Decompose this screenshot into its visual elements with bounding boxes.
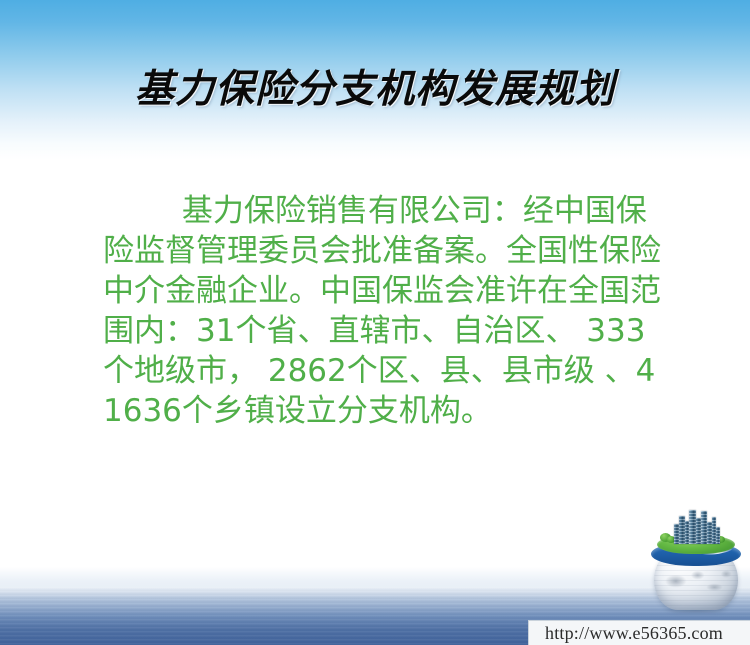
company-description-paragraph: 基力保险销售有限公司：经中国保险监督管理委员会批准备案。全国性保险中介金融企业。… xyxy=(103,191,665,431)
presentation-slide: 基力保险分支机构发展规划 基力保险销售有限公司：经中国保险监督管理委员会批准备案… xyxy=(0,0,750,645)
city-skyline-icon xyxy=(674,508,720,544)
watermark-bar: http://www.e56365.com xyxy=(528,620,750,645)
green-earth-city-globe-graphic xyxy=(650,506,742,614)
horizon-haze xyxy=(0,573,750,599)
page-title: 基力保险分支机构发展规划 xyxy=(0,58,750,114)
building-icon xyxy=(689,510,696,544)
building-icon xyxy=(716,527,720,544)
watermark-url: http://www.e56365.com xyxy=(545,623,723,644)
body-text-block: 基力保险销售有限公司：经中国保险监督管理委员会批准备案。全国性保险中介金融企业。… xyxy=(103,191,665,431)
